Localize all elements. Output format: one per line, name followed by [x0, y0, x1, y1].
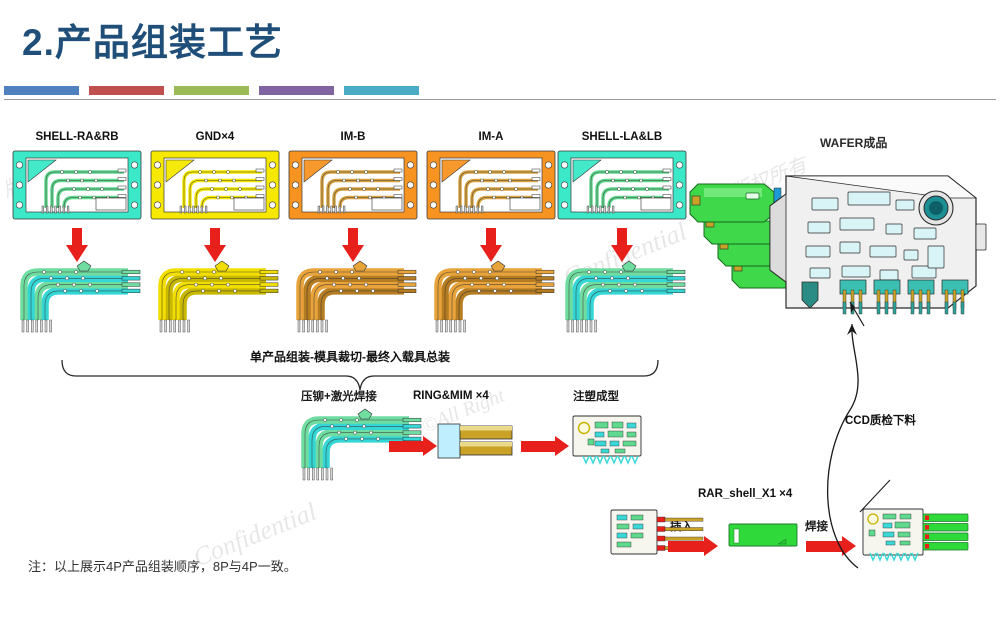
formed-part-artwork: [150, 258, 280, 336]
strip-label: IM-B: [288, 128, 418, 146]
strip-label: SHELL-LA&LB: [557, 128, 687, 146]
strip-cell: SHELL-LA&LB: [557, 128, 687, 222]
accent-segment-purple: [259, 86, 334, 95]
strip-cell: SHELL-RA&RB: [12, 128, 142, 222]
wafer-anchor-arrow: [836, 296, 896, 336]
down-arrow-icon: [480, 228, 502, 262]
title-divider: [4, 99, 996, 100]
down-arrow-icon: [611, 228, 633, 262]
formed-part-artwork: [288, 258, 418, 336]
formed-part-cell: [426, 258, 556, 336]
down-arrow-icon: [66, 228, 88, 262]
strip-cell: IM-A: [426, 128, 556, 222]
accent-segment-blue: [4, 86, 79, 95]
down-arrow-icon: [204, 228, 226, 262]
down-arrow-icon: [342, 228, 364, 262]
mid-assembly-flow: 压铆+激光焊接 RING&MIM ×4 注塑成型: [285, 388, 665, 483]
strip-cell: IM-B: [288, 128, 418, 222]
stamped-strip-row: SHELL-RA&RBGND×4IM-BIM-ASHELL-LA&LB: [12, 128, 692, 238]
formed-part-artwork: [557, 258, 687, 336]
strip-label: IM-A: [426, 128, 556, 146]
mid-step2-part: [437, 416, 515, 468]
formed-part-artwork: [12, 258, 142, 336]
callout-leader-lines: [700, 290, 960, 620]
strip-label: GND×4: [150, 128, 280, 146]
formed-part-row: [12, 258, 692, 338]
accent-segment-green: [174, 86, 249, 95]
title-block: 2.产品组装工艺: [0, 22, 1000, 65]
ring-mim-artwork: [437, 416, 515, 468]
mid-step3-label: 注塑成型: [573, 388, 619, 404]
strip-artwork: [12, 148, 142, 222]
mid-step2-label: RING&MIM ×4: [413, 390, 489, 402]
accent-segment-red: [89, 86, 164, 95]
formed-part-artwork: [426, 258, 556, 336]
formed-part-cell: [150, 258, 280, 336]
formed-part-cell: [557, 258, 687, 336]
strip-artwork: [426, 148, 556, 222]
accent-segment-teal: [344, 86, 419, 95]
mid-arrow-1: [389, 436, 437, 456]
strip-artwork: [150, 148, 280, 222]
strip-cell: GND×4: [150, 128, 280, 222]
mid-arrow-2: [521, 436, 569, 456]
strip-artwork: [288, 148, 418, 222]
molded-housing-artwork: [571, 412, 653, 468]
formed-part-cell: [12, 258, 142, 336]
footer-note: 注：以上展示4P产品组装顺序，8P与4P一致。: [28, 556, 297, 575]
strip-label: SHELL-RA&RB: [12, 128, 142, 146]
formed-part-cell: [288, 258, 418, 336]
mid-step3-part: [571, 412, 653, 468]
accent-color-bar: [4, 86, 504, 95]
page-title: 2.产品组装工艺: [0, 22, 1000, 65]
final-assembly-pointer: [856, 478, 916, 518]
mid-step1-label: 压铆+激光焊接: [301, 388, 377, 404]
strip-artwork: [557, 148, 687, 222]
wafer-label: WAFER成品: [820, 134, 887, 151]
